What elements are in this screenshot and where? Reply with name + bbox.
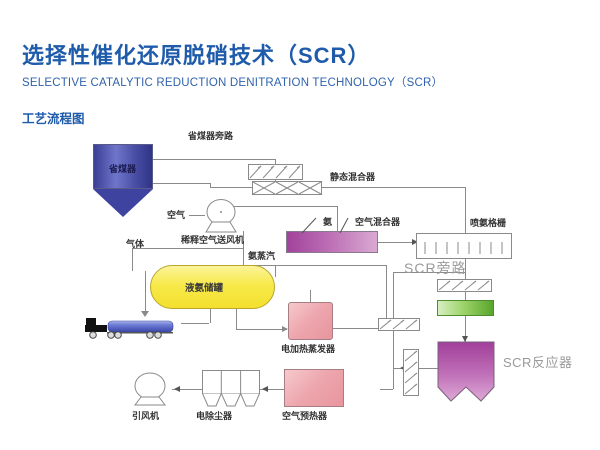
air-mixer-label: 空气混合器: [355, 215, 400, 228]
static-mixer-label: 静态混合器: [330, 170, 375, 183]
pipe-to-aph-right: [380, 389, 393, 390]
page-title-english: SELECTIVE CATALYTIC REDUCTION DENITRATIO…: [22, 74, 443, 90]
section-subheading: 工艺流程图: [22, 108, 85, 127]
economizer-hopper: [93, 189, 153, 217]
electric-heater-evaporator-label: 电加热蒸发器: [281, 342, 335, 355]
dilution-air-fan-label: 稀释空气送风机: [181, 233, 244, 246]
ammonia-label: 氨: [323, 215, 332, 228]
economizer-label: 省煤器: [109, 162, 136, 175]
ammonia-vapor-label: 氨蒸汽: [248, 249, 275, 262]
induced-draft-fan-label: 引风机: [132, 409, 159, 422]
pipe-mixer-to-aig-run: [322, 187, 465, 188]
pipe-gas-left: [132, 248, 133, 271]
catalyst-layer[interactable]: [437, 300, 494, 316]
pipe-bypass-down: [393, 368, 394, 389]
pipe-evap-top-out: [310, 290, 311, 302]
air-inlet-label: 空气: [167, 208, 185, 221]
scr-reactor-label: SCR反应器: [503, 352, 572, 371]
arrow-esp-in: [262, 386, 268, 392]
pipe-econ-top-out: [153, 159, 275, 160]
pipe-to-static-mixer: [210, 187, 252, 188]
air-preheater[interactable]: [284, 369, 344, 407]
scr-bypass-damper[interactable]: [378, 318, 420, 331]
pipe-vapor-return-top: [243, 265, 386, 266]
pipe-aig-drop: [465, 187, 466, 233]
pipe-econ-bot-out: [153, 183, 210, 184]
flue-gas-damper[interactable]: [403, 349, 419, 396]
page-title-chinese: 选择性催化还原脱硝技术（SCR）: [22, 38, 370, 70]
pipe-gas-top: [132, 248, 243, 249]
slide-canvas: 选择性催化还原脱硝技术（SCR） SELECTIVE CATALYTIC RED…: [0, 0, 600, 450]
electric-heater-evaporator[interactable]: [288, 302, 333, 340]
pipe-truck-fill: [145, 271, 146, 313]
induced-draft-fan[interactable]: [128, 372, 172, 406]
pipe-damper-to-catalyst: [465, 291, 466, 300]
scr-bypass-label: SCR旁路: [404, 258, 467, 278]
dilution-air-fan[interactable]: [200, 199, 242, 233]
scr-inlet-damper[interactable]: [437, 279, 492, 292]
ammonia-injection-grid[interactable]: [416, 233, 512, 259]
pipe-tank-to-evap: [236, 329, 287, 330]
pipe-fan-out: [229, 206, 337, 207]
tanker-truck[interactable]: [84, 311, 182, 339]
pipe-tank-top-right: [275, 265, 276, 277]
electrostatic-precipitator-label: 电除尘器: [196, 409, 232, 422]
economizer-bypass-label: 省煤器旁路: [188, 129, 233, 142]
electrostatic-precipitator[interactable]: [202, 370, 260, 408]
static-mixer[interactable]: [252, 181, 322, 195]
pipe-truck-out: [181, 323, 209, 324]
ammonia-injection-grid-label: 喷氨格栅: [470, 216, 506, 229]
air-preheater-label: 空气预热器: [282, 409, 327, 422]
economizer-bypass-damper[interactable]: [248, 164, 303, 180]
arrow-fan-in: [174, 386, 180, 392]
scr-reactor[interactable]: [437, 341, 495, 403]
gas-line-label: 气体: [126, 237, 144, 250]
liquid-ammonia-tank-label: 液氨储罐: [185, 280, 223, 294]
